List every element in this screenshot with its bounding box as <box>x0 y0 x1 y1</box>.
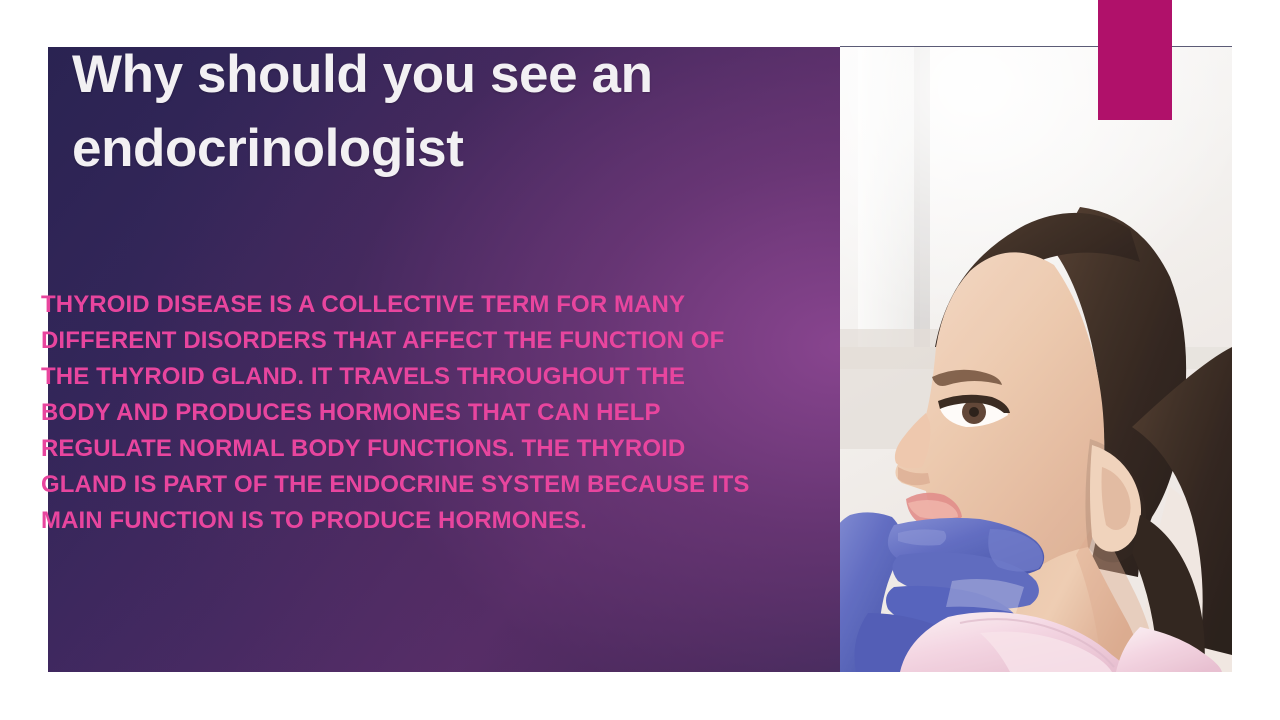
slide-body-paragraph: Thyroid disease is a collective term for… <box>41 287 751 539</box>
magenta-accent-rectangle <box>1098 0 1172 120</box>
photo-illustration <box>840 47 1232 672</box>
slide-title: Why should you see an endocrinologist <box>72 38 762 186</box>
thyroid-exam-photo <box>840 47 1232 672</box>
presentation-slide: Why should you see an endocrinologist Th… <box>0 0 1280 720</box>
